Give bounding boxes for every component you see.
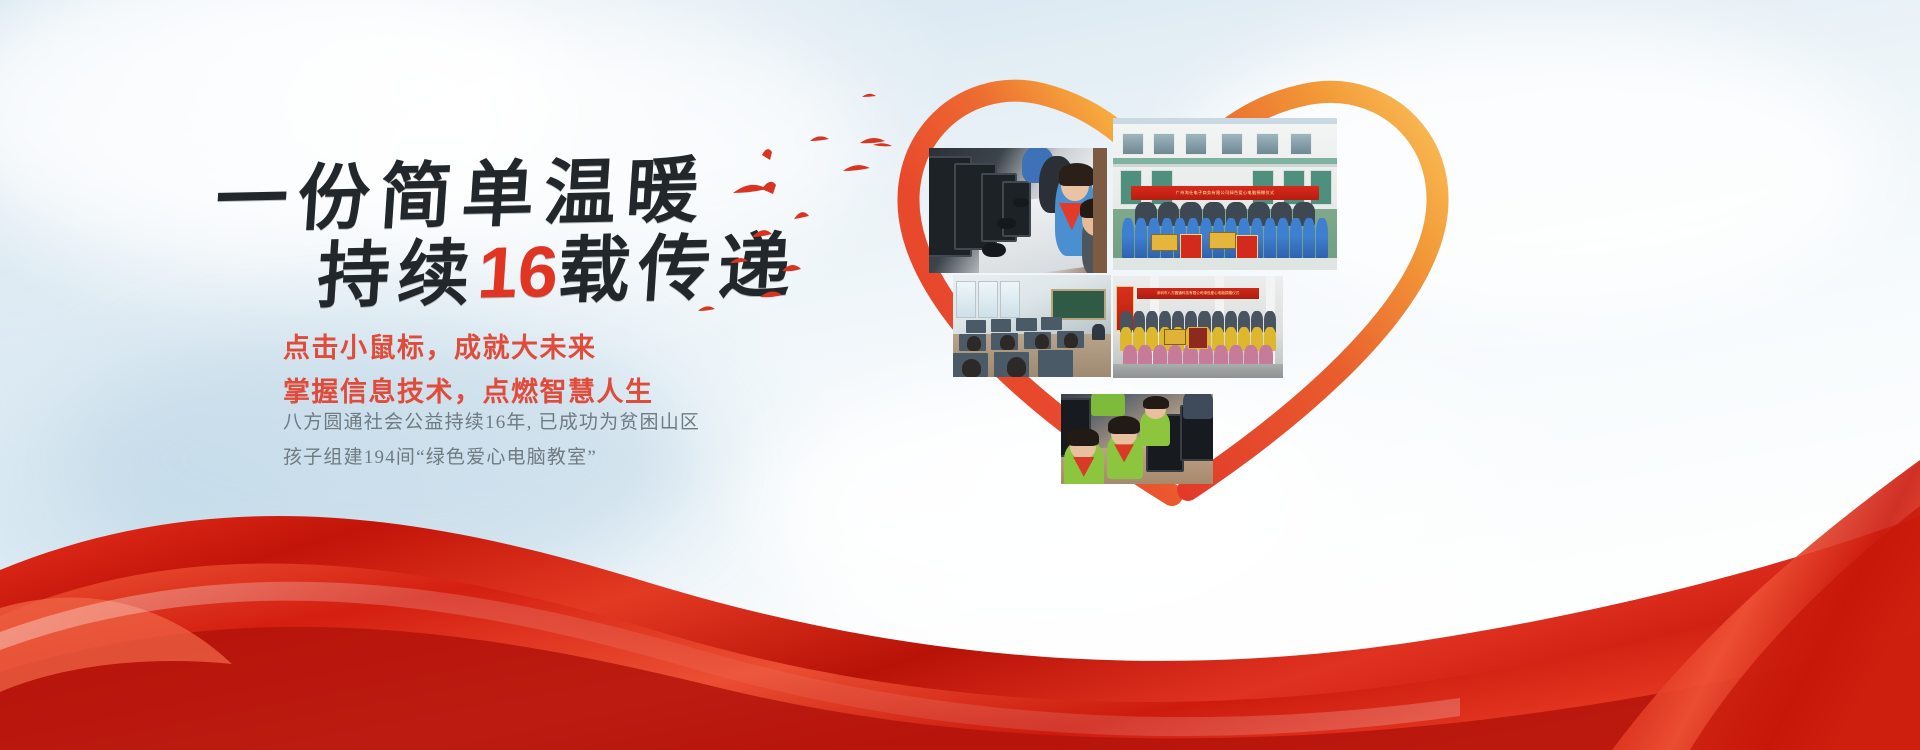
ceremony-banner-text: 深圳市八方圆通科技有限公司绿色爱心电脑捐赠仪式 — [1137, 288, 1259, 299]
headline-years-number: 16 — [475, 232, 561, 314]
photo-computer-lab-students — [929, 148, 1107, 273]
subtitle-block: 点击小鼠标，成就大未来 掌握信息技术，点燃智慧人生 — [283, 328, 654, 416]
photo-indoor-donation-ceremony: 深圳市八方圆通科技有限公司绿色爱心电脑捐赠仪式 — [1113, 276, 1283, 378]
red-ribbon-wave — [0, 420, 1920, 750]
subtitle-line-1: 点击小鼠标，成就大未来 — [283, 328, 654, 370]
headline-line-1: 一份简单温暖 — [213, 155, 711, 237]
headline-prefix: 持续 — [315, 234, 481, 317]
photo-classroom-computers — [953, 275, 1111, 377]
ceremony-banner-text: 广州淘仕电子商务有限公司绿色爱心电脑捐赠仪式 — [1131, 186, 1319, 200]
charity-banner: 一份简单温暖 持续16载传递 点击小鼠标，成就大未来 掌握信息技术，点燃智慧人生… — [0, 0, 1920, 750]
photo-school-donation-ceremony: 广州淘仕电子商务有限公司绿色爱心电脑捐赠仪式 — [1113, 118, 1337, 270]
